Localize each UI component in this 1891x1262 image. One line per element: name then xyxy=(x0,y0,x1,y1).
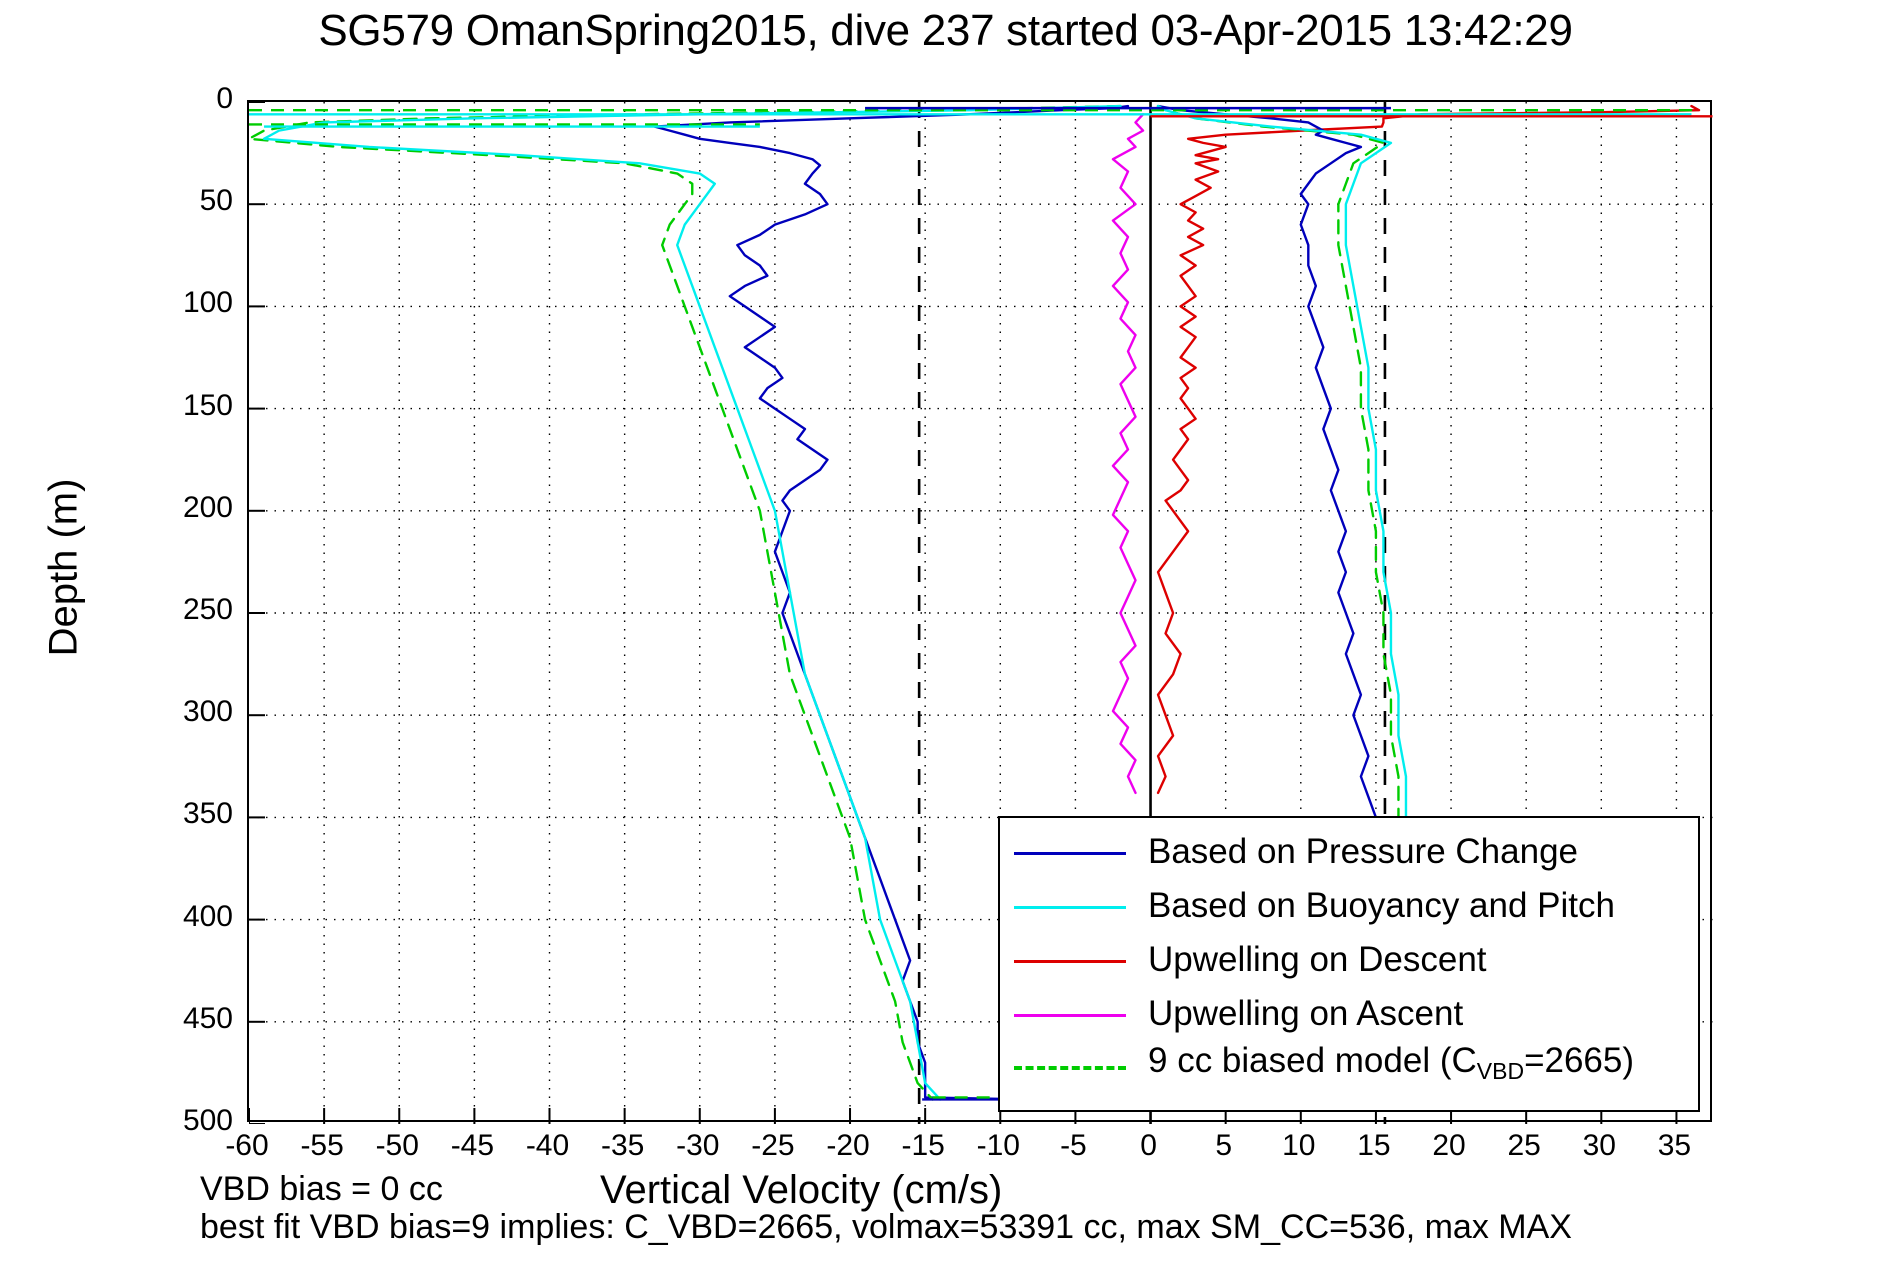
legend-item[interactable]: Based on Pressure Change xyxy=(1000,826,1578,878)
legend-item[interactable]: Based on Buoyancy and Pitch xyxy=(1000,880,1615,932)
x-axis-title: Vertical Velocity (cm/s) xyxy=(600,1168,1002,1213)
legend-color-swatch xyxy=(1014,895,1126,917)
legend-item-label: 9 cc biased model (CVBD=2665) xyxy=(1148,1043,1634,1089)
legend-item-label: Based on Pressure Change xyxy=(1148,834,1578,870)
series-line-ascent xyxy=(1113,114,1143,793)
series-upwelling-on-ascent xyxy=(1113,114,1143,793)
legend-item-label: Upwelling on Ascent xyxy=(1148,996,1463,1032)
y-axis-title: Depth (m) xyxy=(42,438,87,698)
series-line-descent xyxy=(1158,106,1699,793)
legend-subscript: VBD xyxy=(1477,1058,1524,1084)
legend-item-label: Based on Buoyancy and Pitch xyxy=(1148,888,1615,924)
footer-note: best fit VBD bias=9 implies: C_VBD=2665,… xyxy=(200,1208,1572,1247)
legend-color-swatch xyxy=(1014,949,1126,971)
legend-item-label: Upwelling on Descent xyxy=(1148,942,1487,978)
series-upwelling-on-descent xyxy=(1158,106,1699,793)
vbd-bias-note: VBD bias = 0 cc xyxy=(200,1170,443,1209)
series-line-descent xyxy=(264,106,1120,1099)
legend-color-swatch xyxy=(1014,1055,1126,1077)
legend-color-swatch xyxy=(1014,841,1126,863)
legend-color-swatch xyxy=(1014,1003,1126,1025)
legend-item[interactable]: Upwelling on Descent xyxy=(1000,934,1487,986)
x-tick-label: 35 xyxy=(1629,1130,1719,1162)
legend-item[interactable]: 9 cc biased model (CVBD=2665) xyxy=(1000,1040,1634,1092)
legend-item[interactable]: Upwelling on Ascent xyxy=(1000,988,1463,1040)
series-line-descent xyxy=(249,106,1120,1099)
legend: Based on Pressure ChangeBased on Buoyanc… xyxy=(998,816,1700,1112)
